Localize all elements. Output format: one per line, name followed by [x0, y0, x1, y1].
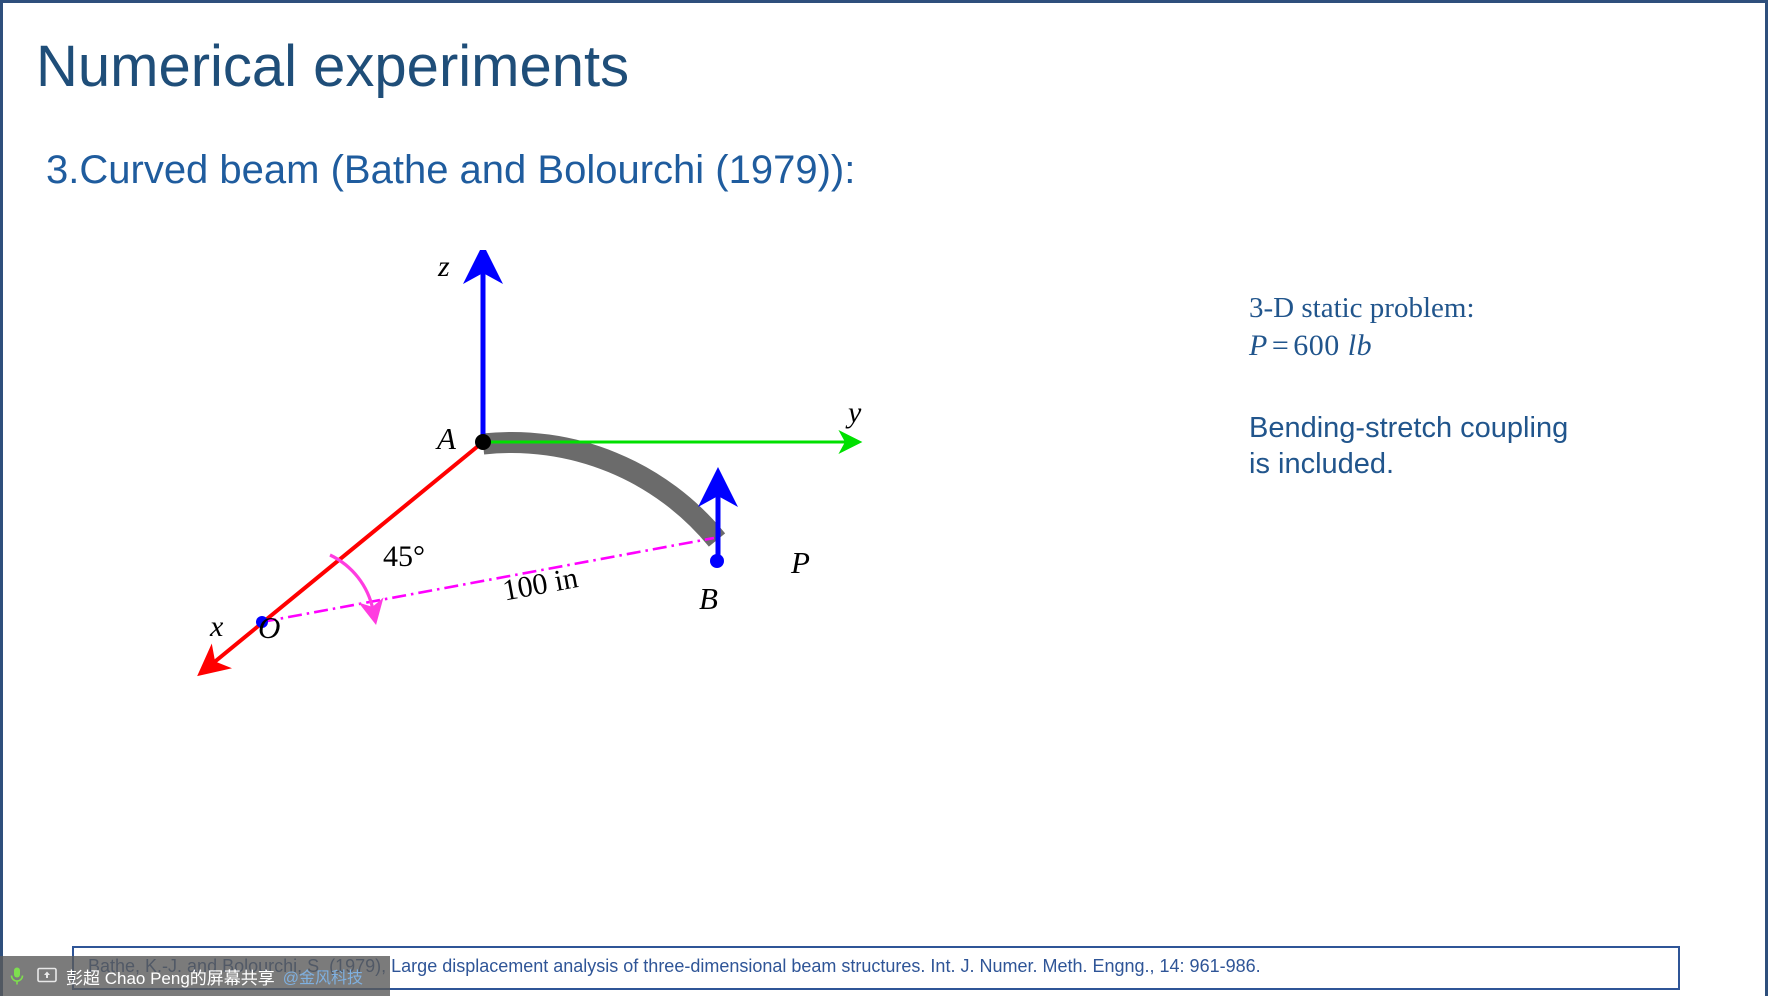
share-presenter-label: 彭超 Chao Peng的屏幕共享: [66, 964, 275, 989]
point-a-label: A: [437, 421, 456, 457]
notes-spacer: [1249, 366, 1669, 410]
radius-line-o-to-b: [262, 538, 714, 622]
formula-symbol: P: [1249, 329, 1268, 362]
share-brand-label: @金风科技: [283, 964, 363, 988]
force-label-p: P: [791, 545, 810, 581]
slide-left-border: [0, 0, 3, 996]
notes-line-problem-type: 3-D static problem:: [1249, 290, 1669, 327]
curved-beam-svg: [180, 250, 900, 690]
slide-top-border: [0, 0, 1768, 3]
curved-beam-diagram: z y x A P B O 45° 100 in: [180, 250, 900, 690]
point-o-label: O: [258, 610, 280, 646]
presentation-slide: Numerical experiments 3.Curved beam (Bat…: [0, 0, 1768, 996]
microphone-icon[interactable]: [6, 965, 28, 987]
axis-x-label: x: [210, 610, 223, 644]
screen-share-bar[interactable]: 彭超 Chao Peng的屏幕共享 @金风科技: [0, 956, 390, 996]
formula-unit: lb: [1348, 329, 1372, 362]
formula-operator: =: [1268, 329, 1293, 362]
angle-label-45: 45°: [383, 540, 425, 574]
notes-line-coupling-1: Bending-stretch coupling: [1249, 410, 1669, 447]
axis-x-line: [212, 442, 483, 664]
page-title: Numerical experiments: [36, 33, 629, 100]
node-a-marker: [475, 434, 491, 450]
formula-value: 600: [1293, 329, 1340, 362]
notes-block: 3-D static problem: P=600 lb Bending-str…: [1249, 290, 1669, 483]
curved-beam-body: [483, 442, 717, 540]
screen-share-icon[interactable]: [36, 965, 58, 987]
notes-formula: P=600 lb: [1249, 327, 1669, 365]
node-b-marker: [710, 554, 724, 568]
notes-line-coupling-2: is included.: [1249, 446, 1669, 483]
axis-z-label: z: [438, 250, 450, 284]
axis-y-label: y: [848, 396, 861, 430]
point-b-label: B: [699, 581, 718, 617]
slide-subtitle: 3.Curved beam (Bathe and Bolourchi (1979…: [46, 148, 855, 193]
